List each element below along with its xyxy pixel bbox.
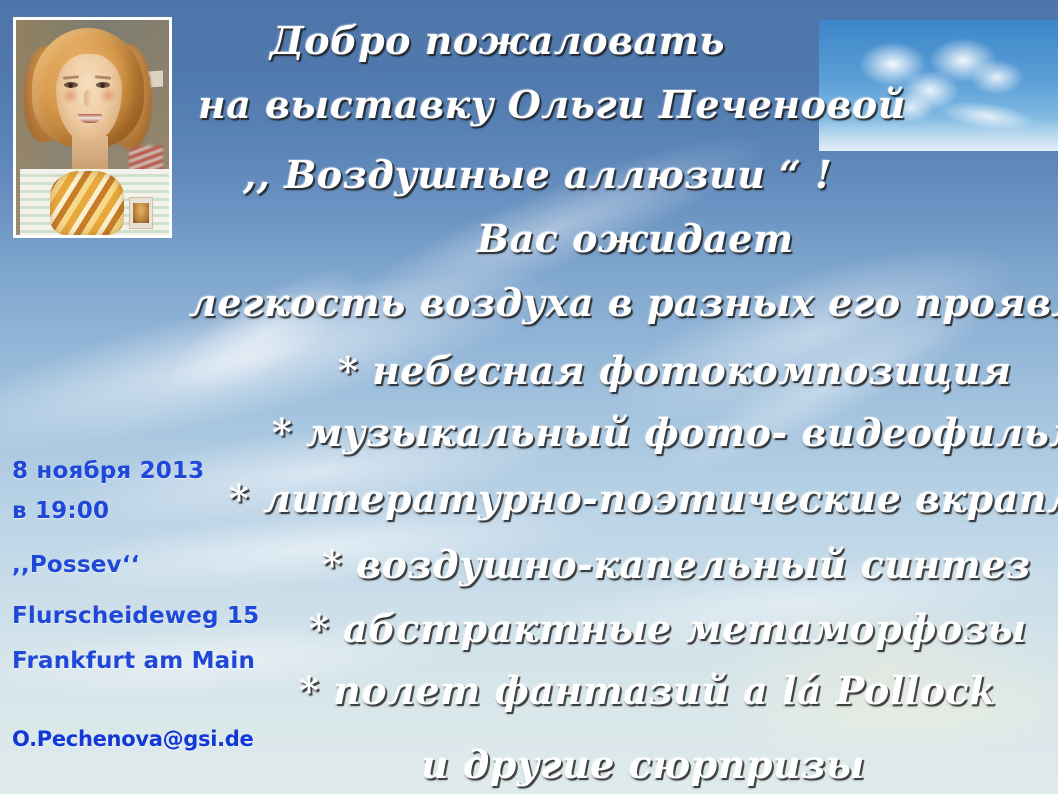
bullet-item: * абстрактные метаморфозы bbox=[309, 606, 1027, 651]
portrait-photo: TED bbox=[13, 17, 172, 238]
venue-name: ,,Possev‘‘ bbox=[12, 552, 140, 578]
venue-street: Flurscheideweg 15 bbox=[12, 603, 259, 629]
bullet-item: * литературно-поэтические вкрапления bbox=[229, 476, 1058, 521]
bullet-item: * воздушно-капельный синтез bbox=[322, 542, 1031, 587]
scarf bbox=[50, 171, 124, 235]
bullet-item: * полет фантазий а lá Pollock bbox=[299, 668, 996, 713]
bullet-item: * небесная фотокомпозиция bbox=[338, 348, 1012, 393]
poster-canvas: TED Добро пожаловать на выставку Ольги П… bbox=[0, 0, 1058, 794]
headline-exhibition: на выставку Ольги Печеновой bbox=[198, 82, 906, 127]
contact-email[interactable]: O.Pechenova@gsi.de bbox=[12, 727, 253, 751]
closing-line: и другие сюрпризы bbox=[421, 742, 865, 787]
headline-lightness: легкость воздуха в разных его проявления… bbox=[189, 280, 1058, 325]
event-date: 8 ноября 2013 bbox=[12, 458, 204, 484]
cheek-right bbox=[98, 88, 118, 103]
cheek-left bbox=[60, 88, 80, 103]
name-badge bbox=[129, 197, 153, 229]
pupil-right bbox=[100, 83, 105, 88]
nose bbox=[84, 90, 92, 106]
event-time: в 19:00 bbox=[12, 498, 109, 524]
venue-city: Frankfurt am Main bbox=[12, 648, 255, 674]
headline-title: ,, Воздушные аллюзии “ ! bbox=[243, 152, 832, 197]
bullet-item: * музыкальный фото- видеофильм bbox=[272, 410, 1058, 455]
headline-awaits: Вас ожидает bbox=[477, 216, 794, 261]
pupil-left bbox=[68, 83, 73, 88]
headline-welcome: Добро пожаловать bbox=[270, 18, 725, 63]
background-flag bbox=[129, 146, 163, 170]
